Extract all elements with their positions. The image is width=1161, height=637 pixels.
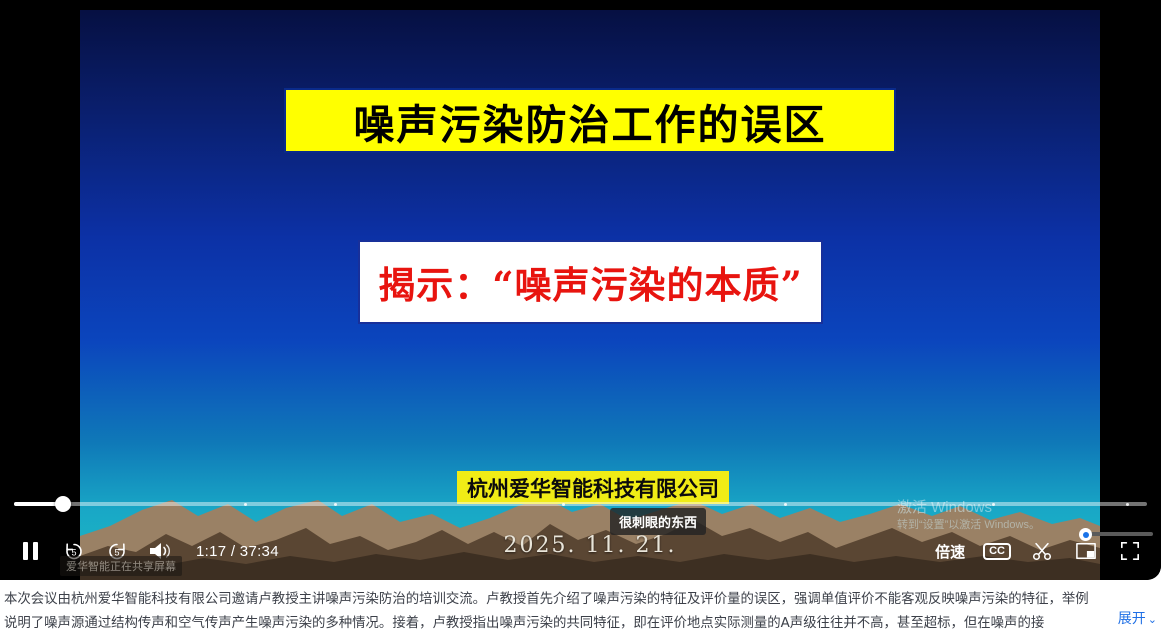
description-line-1: 本次会议由杭州爱华智能科技有限公司邀请卢教授主讲噪声污染防治的培训交流。卢教授首… — [4, 588, 1153, 612]
scissors-clip-icon[interactable] — [1029, 538, 1055, 564]
slide-subtitle-text: 揭示：“噪声污染的本质” — [378, 255, 803, 309]
slide-title-text: 噪声污染防治工作的误区 — [354, 91, 827, 151]
svg-text:5: 5 — [71, 548, 76, 558]
replay-5-icon[interactable]: 5 — [61, 538, 87, 564]
description-line-2: 说明了噪声源通过结构传声和空气传声产生噪声污染的多种情况。接着，卢教授指出噪声污… — [4, 612, 1153, 636]
letterbox-left — [0, 0, 80, 580]
volume-track[interactable] — [1085, 532, 1153, 536]
progress-track[interactable] — [14, 502, 1147, 506]
controls-row: 5 5 — [0, 522, 1161, 580]
video-surface[interactable]: 噪声污染防治工作的误区 揭示：“噪声污染的本质” 激活 Windows 转到“设… — [0, 0, 1161, 580]
letterbox-right — [1100, 0, 1161, 580]
volume-slider[interactable] — [1079, 528, 1155, 540]
video-description: 本次会议由杭州爱华智能科技有限公司邀请卢教授主讲噪声污染防治的培训交流。卢教授首… — [0, 583, 1161, 637]
chapter-marker[interactable] — [784, 503, 787, 506]
progress-bar[interactable] — [14, 496, 1147, 512]
volume-handle[interactable] — [1079, 528, 1092, 541]
chapter-marker[interactable] — [1126, 503, 1129, 506]
captions-cc-button[interactable]: CC — [983, 543, 1011, 560]
playback-speed-button[interactable]: 倍速 — [935, 541, 965, 562]
video-page: 噪声污染防治工作的误区 揭示：“噪声污染的本质” 激活 Windows 转到“设… — [0, 0, 1161, 637]
volume-icon[interactable] — [147, 538, 173, 564]
chapter-marker[interactable] — [562, 503, 565, 506]
time-display: 1:17 / 37:34 — [196, 543, 279, 560]
controls-left-group: 5 5 — [0, 538, 279, 564]
letterbox-top — [0, 0, 1161, 10]
fullscreen-icon[interactable] — [1117, 538, 1143, 564]
chevron-down-icon: ⌄ — [1148, 613, 1157, 626]
controls-right-group: 倍速 CC — [935, 538, 1161, 564]
presentation-slide: 噪声污染防治工作的误区 揭示：“噪声污染的本质” 激活 Windows 转到“设… — [80, 10, 1100, 580]
chapter-marker[interactable] — [334, 503, 337, 506]
picture-in-picture-icon[interactable] — [1073, 538, 1099, 564]
player-controls: 5 5 — [0, 522, 1161, 580]
progress-handle[interactable] — [55, 496, 71, 512]
svg-text:5: 5 — [114, 548, 119, 558]
expand-description-button[interactable]: 展开⌄ — [1104, 607, 1157, 632]
chapter-marker[interactable] — [244, 503, 247, 506]
video-player[interactable]: 噪声污染防治工作的误区 揭示：“噪声污染的本质” 激活 Windows 转到“设… — [0, 0, 1161, 580]
expand-label: 展开 — [1118, 611, 1146, 627]
pause-button[interactable] — [18, 538, 44, 564]
chapter-marker[interactable] — [992, 503, 995, 506]
forward-5-icon[interactable]: 5 — [104, 538, 130, 564]
slide-title-box: 噪声污染防治工作的误区 — [284, 88, 896, 153]
slide-subtitle-box: 揭示：“噪声污染的本质” — [358, 240, 823, 324]
